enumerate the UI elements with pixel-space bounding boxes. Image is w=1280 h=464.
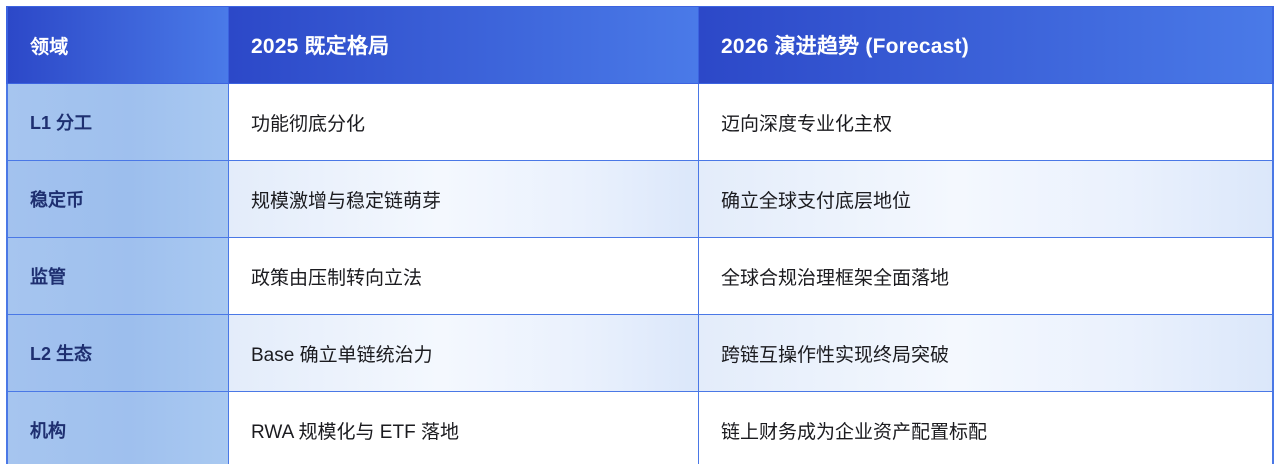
cell-forecast: 迈向深度专业化主权 — [698, 84, 1274, 161]
cell-current: 规模激增与稳定链萌芽 — [228, 161, 698, 238]
cell-forecast: 链上财务成为企业资产配置标配 — [698, 392, 1274, 464]
column-header-domain: 领域 — [6, 6, 228, 84]
table-row: 机构 RWA 规模化与 ETF 落地 链上财务成为企业资产配置标配 — [6, 392, 1274, 464]
table-header: 领域 2025 既定格局 2026 演进趋势 (Forecast) — [6, 6, 1274, 84]
table-header-row: 领域 2025 既定格局 2026 演进趋势 (Forecast) — [6, 6, 1274, 84]
table-row: 稳定币 规模激增与稳定链萌芽 确立全球支付底层地位 — [6, 161, 1274, 238]
comparison-table: 领域 2025 既定格局 2026 演进趋势 (Forecast) L1 分工 … — [6, 6, 1274, 464]
cell-domain: 监管 — [6, 238, 228, 315]
cell-current: 功能彻底分化 — [228, 84, 698, 161]
cell-forecast: 确立全球支付底层地位 — [698, 161, 1274, 238]
table-row: 监管 政策由压制转向立法 全球合规治理框架全面落地 — [6, 238, 1274, 315]
cell-current: 政策由压制转向立法 — [228, 238, 698, 315]
table-row: L1 分工 功能彻底分化 迈向深度专业化主权 — [6, 84, 1274, 161]
cell-forecast: 跨链互操作性实现终局突破 — [698, 315, 1274, 392]
cell-current: RWA 规模化与 ETF 落地 — [228, 392, 698, 464]
column-header-current: 2025 既定格局 — [228, 6, 698, 84]
table-row: L2 生态 Base 确立单链统治力 跨链互操作性实现终局突破 — [6, 315, 1274, 392]
cell-domain: L2 生态 — [6, 315, 228, 392]
cell-forecast: 全球合规治理框架全面落地 — [698, 238, 1274, 315]
comparison-table-container: 领域 2025 既定格局 2026 演进趋势 (Forecast) L1 分工 … — [0, 0, 1280, 464]
column-header-forecast: 2026 演进趋势 (Forecast) — [698, 6, 1274, 84]
cell-domain: 稳定币 — [6, 161, 228, 238]
table-body: L1 分工 功能彻底分化 迈向深度专业化主权 稳定币 规模激增与稳定链萌芽 确立… — [6, 84, 1274, 464]
cell-domain: 机构 — [6, 392, 228, 464]
cell-current: Base 确立单链统治力 — [228, 315, 698, 392]
cell-domain: L1 分工 — [6, 84, 228, 161]
